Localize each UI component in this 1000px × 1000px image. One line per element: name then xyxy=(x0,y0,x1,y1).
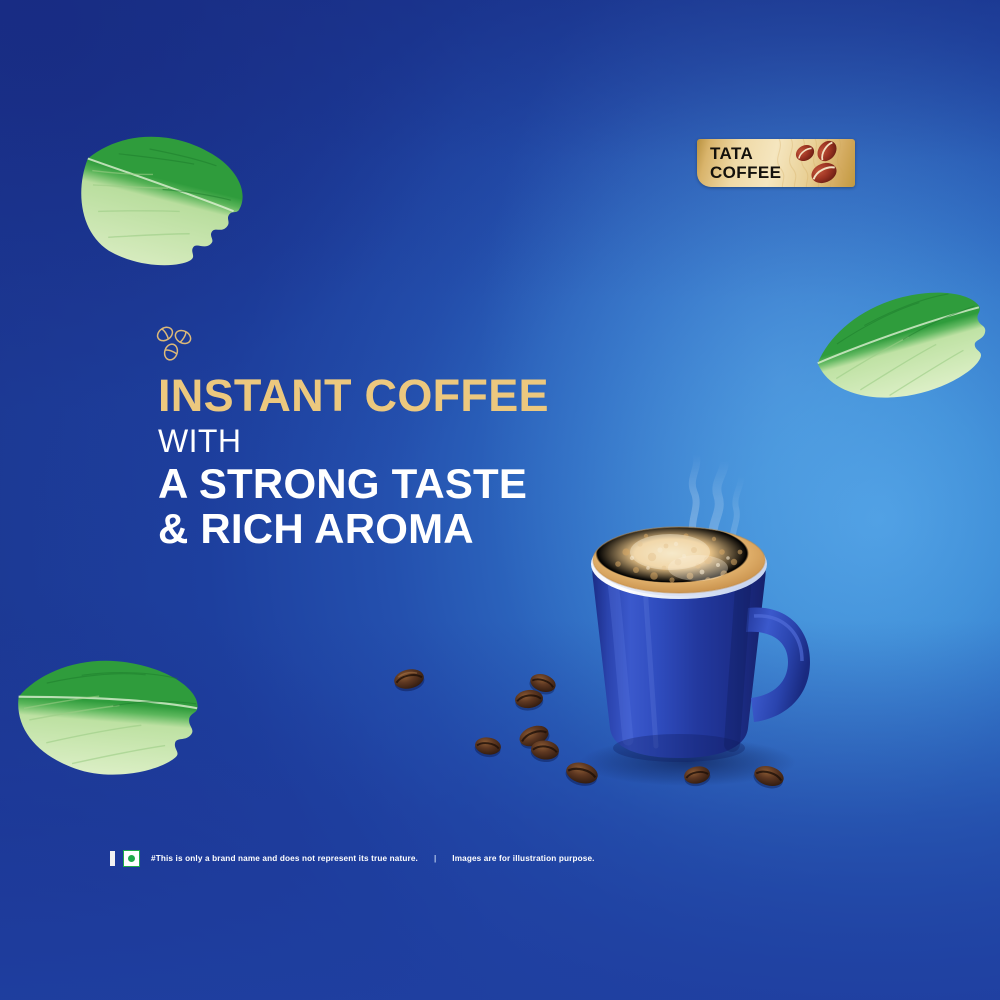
headline-line-rich-aroma: & RICH AROMA xyxy=(158,506,549,551)
coffee-leaf-right xyxy=(806,284,996,409)
headline-line-instant-coffee: INSTANT COFFEE xyxy=(158,372,549,420)
headline-block: INSTANT COFFEE WITH A STRONG TASTE & RIC… xyxy=(158,372,549,551)
vegetarian-dot xyxy=(128,855,135,862)
footer-disclaimer-text: #This is only a brand name and does not … xyxy=(151,854,418,863)
mug-handle xyxy=(746,608,810,722)
logo-coffee-beans-icon xyxy=(791,139,853,187)
footer-illustration-note: Images are for illustration purpose. xyxy=(452,854,594,863)
headline-line-with: WITH xyxy=(158,421,549,461)
coffee-leaf-top-left xyxy=(62,106,247,286)
logo-line-tata: TATA xyxy=(710,145,781,164)
three-coffee-beans-outline-icon xyxy=(152,323,196,365)
footer-white-bar xyxy=(110,851,115,866)
logo-wordmark: TATA COFFEE xyxy=(710,145,781,182)
coffee-leaf-bottom-left xyxy=(4,638,204,798)
advertisement-banner: TATA COFFEE xyxy=(0,0,1000,1000)
coffee-mug-illustration xyxy=(548,440,838,800)
logo-line-coffee: COFFEE xyxy=(710,164,781,183)
footer-separator: | xyxy=(434,854,436,863)
footer-disclaimer-bar: #This is only a brand name and does not … xyxy=(110,848,595,868)
coffee-cup-image xyxy=(548,440,838,800)
headline-line-strong-taste: A STRONG TASTE xyxy=(158,461,549,506)
vegetarian-symbol xyxy=(123,850,140,867)
tata-coffee-logo[interactable]: TATA COFFEE xyxy=(697,139,855,187)
